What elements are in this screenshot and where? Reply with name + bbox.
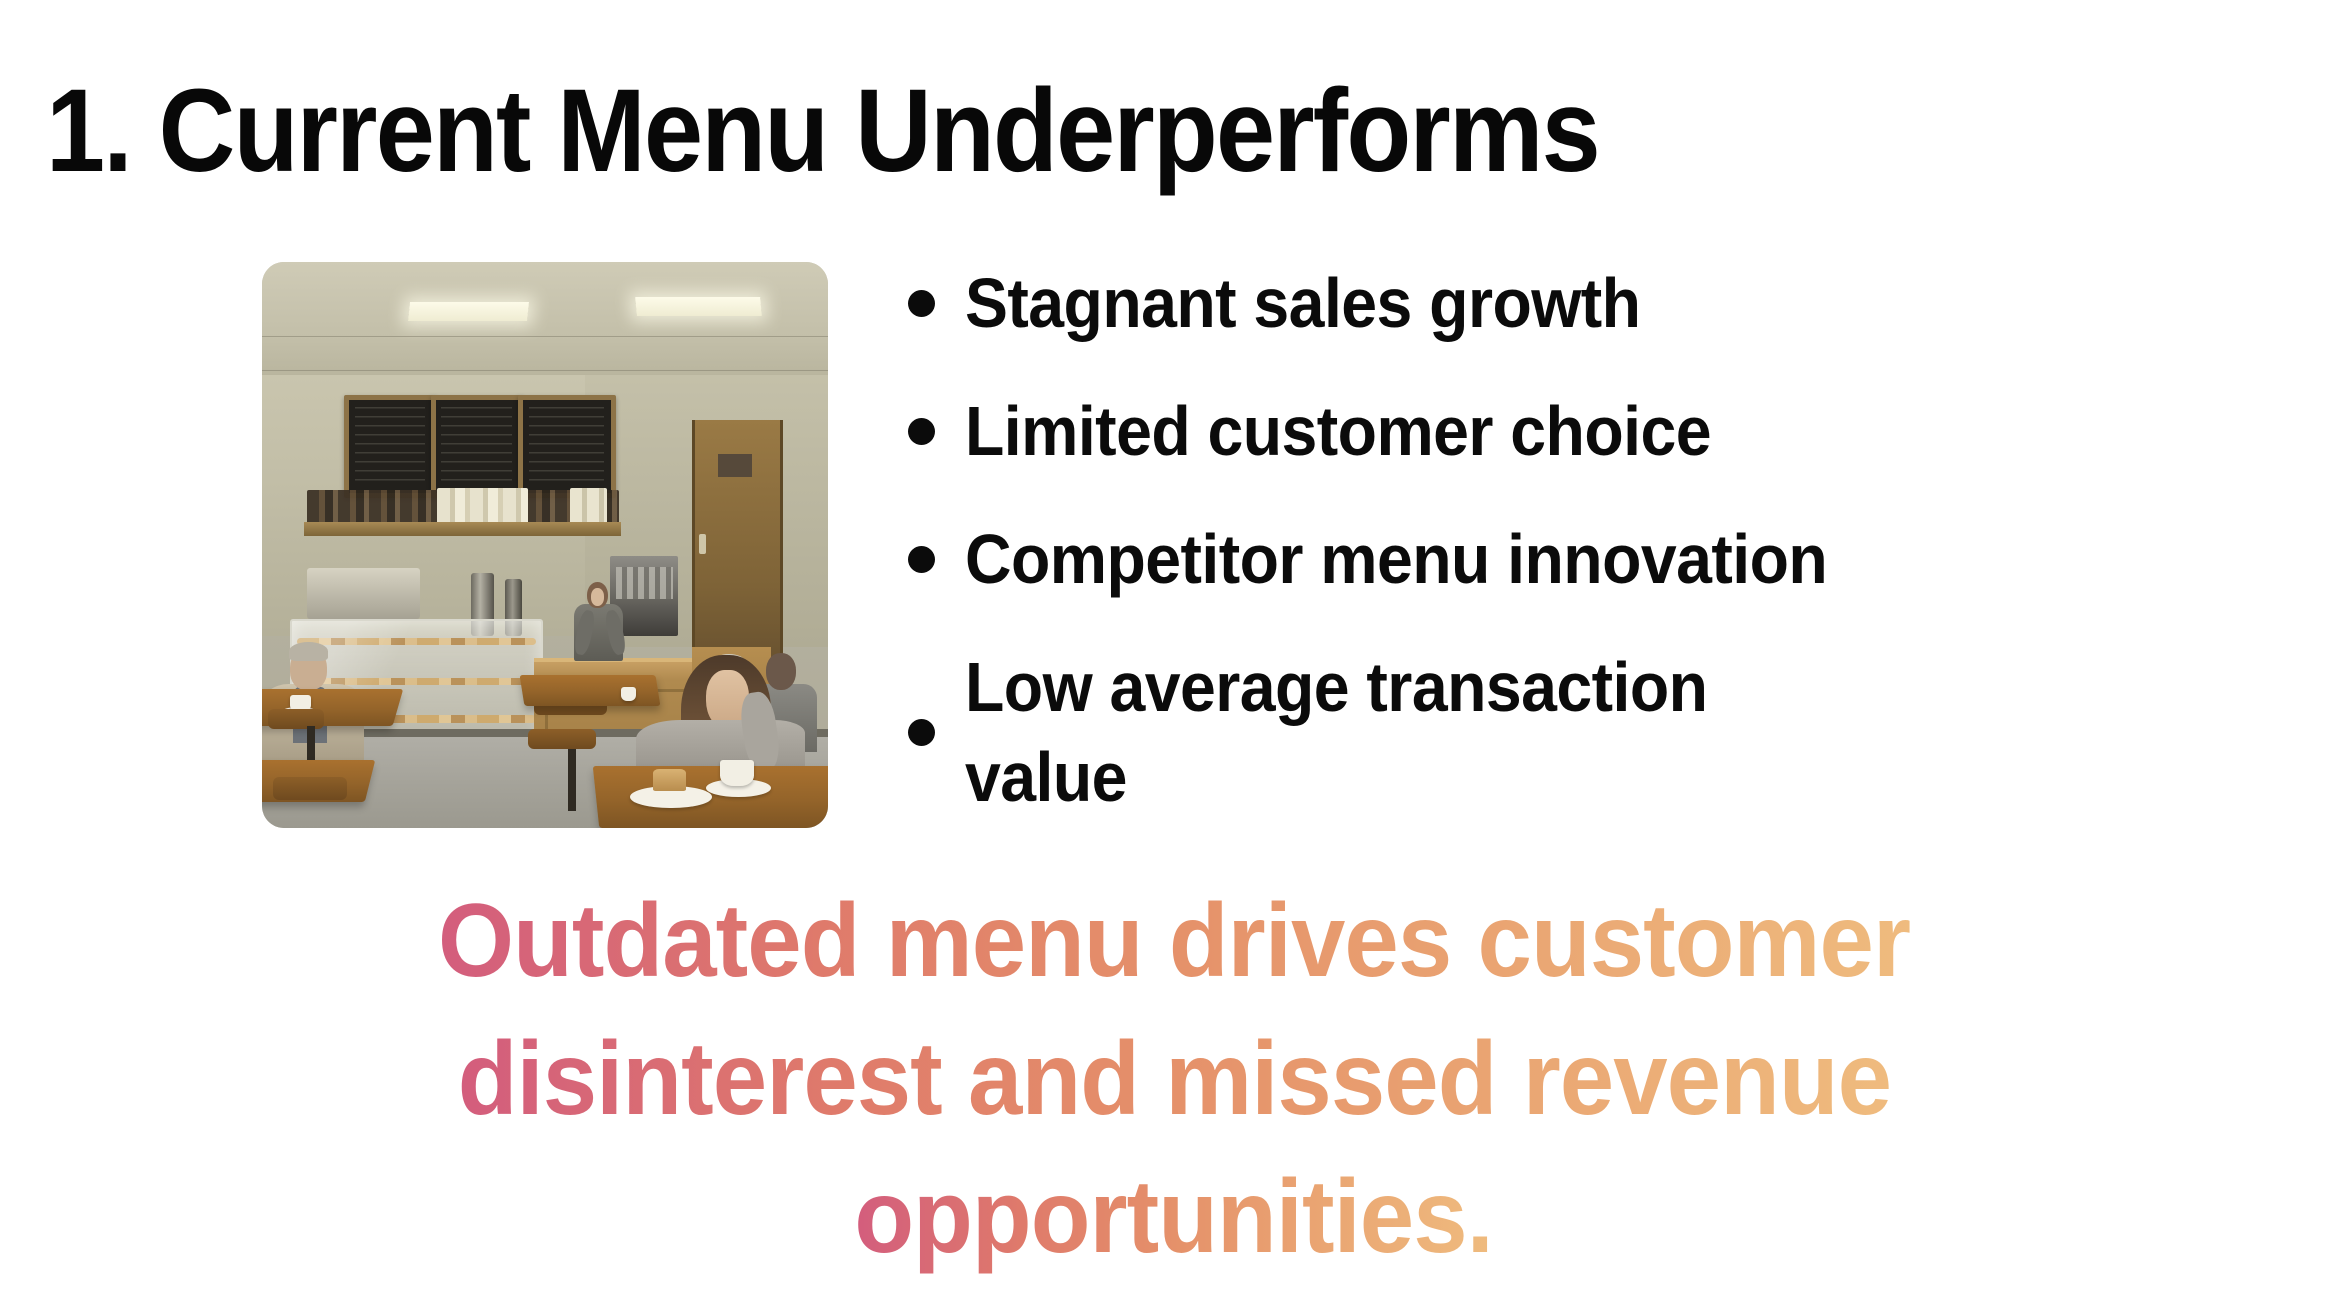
bullet-label-1: Stagnant sales growth [965,258,1640,348]
caption-line-1-text: Outdated menu drives customer [438,872,1910,1010]
bullet-dot-icon [908,418,935,445]
cafe-photo [262,262,828,828]
photo-chalkboard-menu-3 [518,395,616,498]
list-item: Low average transaction value [908,642,2288,822]
bullet-label-4: Low average transaction value [965,642,1885,822]
cafe-photo-image [262,262,828,828]
photo-chair-pedestal [568,749,576,811]
photo-pastry [653,769,687,792]
bullet-label-3: Competitor menu innovation [965,514,1827,604]
photo-patron-4-head [766,653,797,690]
photo-door-sign [718,454,752,477]
list-item: Stagnant sales growth [908,258,2288,348]
list-item: Limited customer choice [908,386,2288,476]
page-title: 1. Current Menu Underperforms [46,72,2026,190]
photo-chair-4 [528,729,596,749]
slide-canvas: 1. Current Menu Underperforms [0,0,2348,1298]
bullet-list: Stagnant sales growth Limited customer c… [908,258,2288,860]
bullet-dot-icon [908,546,935,573]
photo-chalkboard-menu-2 [431,395,523,498]
photo-ceiling-light-left [408,302,529,321]
photo-chair-2 [273,777,347,800]
caption-line-2: disinterest and missed revenue [0,1010,2348,1148]
photo-cup-2 [720,760,754,786]
photo-ceiling [262,262,828,387]
caption-text: Outdated menu drives customer disinteres… [0,872,2348,1286]
bullet-label-2: Limited customer choice [965,386,1711,476]
caption-line-3-text: opportunities. [855,1148,1494,1286]
photo-shelf-jars-pale-2 [570,488,607,525]
photo-back-counter-equipment [307,568,420,619]
bullet-dot-icon [908,290,935,317]
photo-cup-3 [621,687,636,702]
photo-shelf-jars-pale [437,488,528,525]
photo-table-3 [520,675,661,706]
photo-door-knob [699,534,706,554]
photo-chair-1 [268,709,325,729]
photo-ceiling-seam-2 [262,370,828,371]
list-item: Competitor menu innovation [908,514,2288,604]
photo-chalkboard-menu-1 [344,395,436,498]
photo-ceiling-light-right [635,297,761,316]
caption-line-3: opportunities. [0,1148,2348,1286]
photo-shelf [304,522,621,536]
photo-patron-1-hair [289,642,328,661]
caption-line-1: Outdated menu drives customer [0,872,2348,1010]
bullet-dot-icon [908,719,935,746]
caption-line-2-text: disinterest and missed revenue [457,1010,1890,1148]
photo-ceiling-seam [262,336,828,337]
